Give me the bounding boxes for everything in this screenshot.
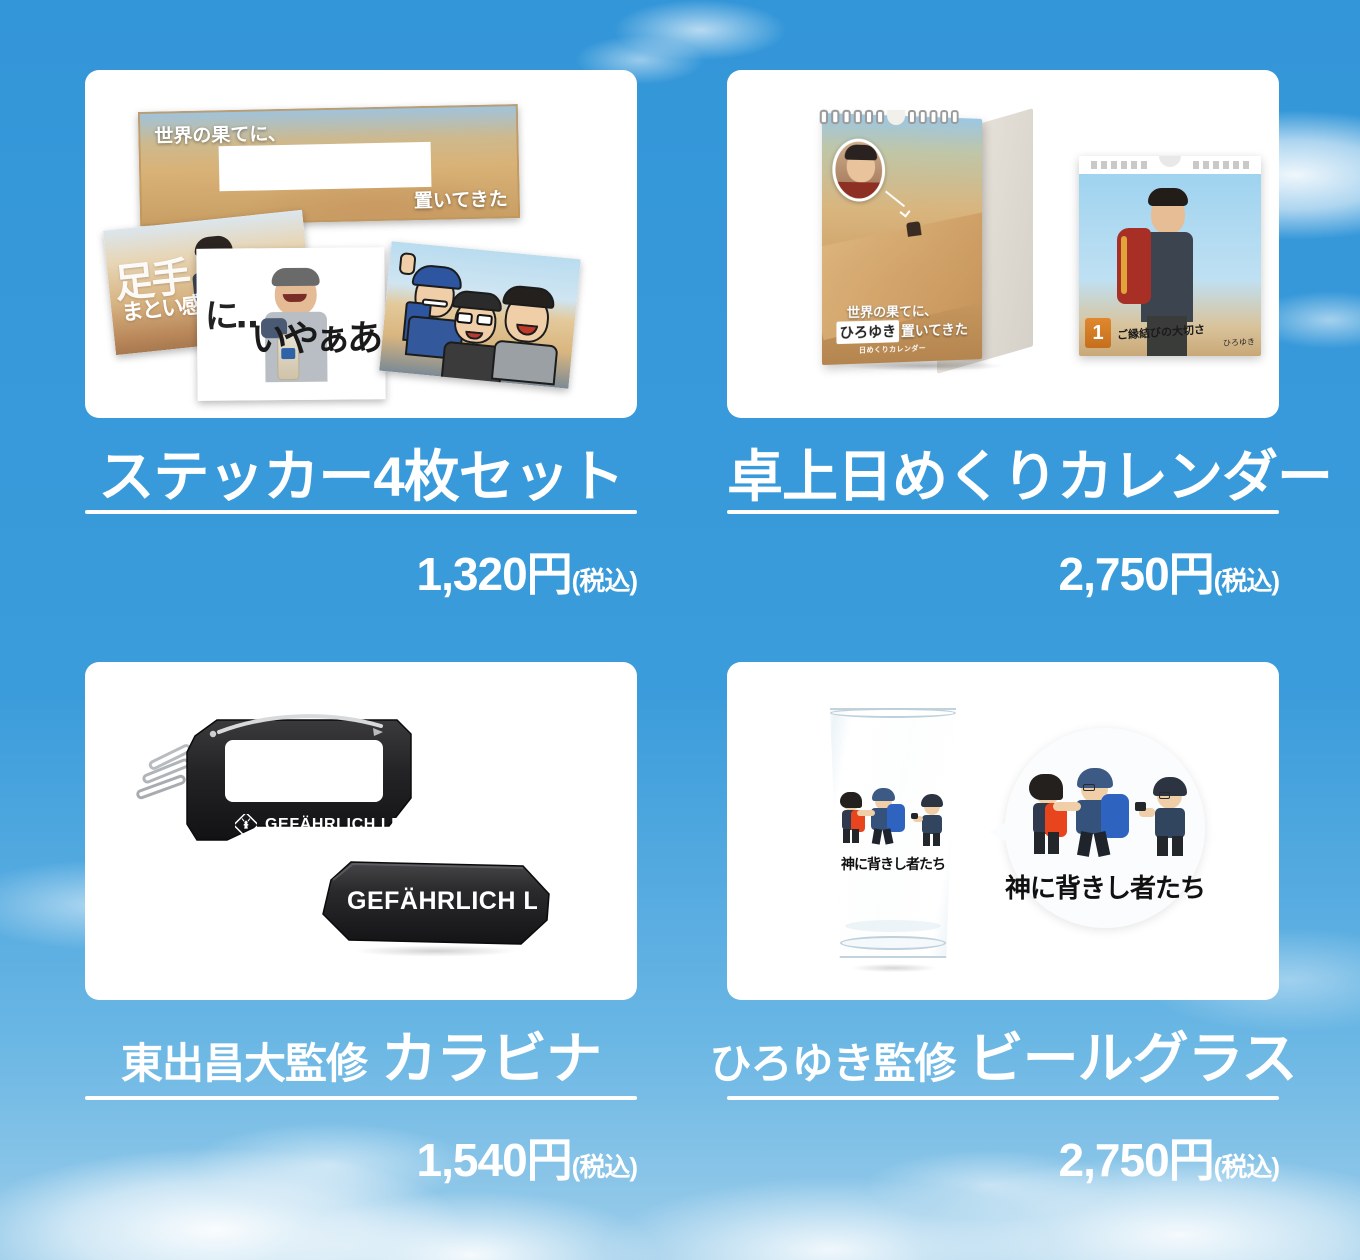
product-title-main: ビールグラス bbox=[968, 1014, 1297, 1095]
product-image-beer-glass: 神に背きし者たち bbox=[727, 662, 1279, 1000]
calendar-day-number: 1 bbox=[1085, 318, 1111, 348]
sticker-trio-illustration bbox=[379, 241, 581, 389]
product-title-carabiner: 東出昌大監修 カラビナ bbox=[85, 1014, 637, 1095]
callout-print-text: 神に背きし者たち bbox=[1005, 868, 1205, 905]
product-title-main: カラビナ bbox=[381, 1014, 601, 1095]
price-amount: 1,540円 bbox=[417, 1134, 572, 1186]
engraving-text: GEFÄHRLICH LEBEN! bbox=[265, 816, 444, 834]
print-detail-callout: 神に背きし者たち bbox=[1005, 728, 1205, 928]
calendar-day-signature: ひろゆき bbox=[1223, 336, 1256, 349]
sticker-iyaa: に‥ いやぁあ bbox=[196, 247, 385, 401]
price-tax-note: (税込) bbox=[1214, 566, 1279, 596]
price-tax-note: (税込) bbox=[572, 566, 637, 596]
product-title-beer-glass: ひろゆき監修 ビールグラス bbox=[727, 1014, 1279, 1095]
product-card-carabiner[interactable]: GEFÄHRLICH LEBEN! bbox=[85, 662, 637, 1192]
product-title-prefix: 東出昌大監修 bbox=[121, 1030, 367, 1091]
title-divider bbox=[727, 1096, 1279, 1100]
product-card-sticker-set[interactable]: 世界の果てに、 置いてきた 足手 まとい感 bbox=[85, 70, 637, 590]
calendar-body: 世界の果てに、 ひろゆき 置いてきた 日めくりカレンダー bbox=[817, 108, 1047, 370]
sticker-top: 世界の果てに、 置いてきた bbox=[138, 104, 520, 226]
glass-print-text: 神に背きし者たち bbox=[823, 854, 963, 874]
product-card-desk-daily-calendar[interactable]: 世界の果てに、 ひろゆき 置いてきた 日めくりカレンダー bbox=[727, 70, 1279, 590]
product-title-calendar: 卓上日めくりカレンダー bbox=[727, 432, 1279, 513]
product-image-calendar: 世界の果てに、 ひろゆき 置いてきた 日めくりカレンダー bbox=[727, 70, 1279, 418]
title-divider bbox=[85, 510, 637, 514]
title-divider bbox=[85, 1096, 637, 1100]
calendar-day-page: 1 ご縁結びの大切さ ひろゆき bbox=[1079, 156, 1261, 356]
carabiner-engraving: GEFÄHRLICH LEBEN! bbox=[235, 814, 444, 836]
product-image-sticker-set: 世界の果てに、 置いてきた 足手 まとい感 bbox=[85, 70, 637, 418]
product-grid: 世界の果てに、 置いてきた 足手 まとい感 bbox=[0, 0, 1360, 1260]
price-amount: 2,750円 bbox=[1059, 1134, 1214, 1186]
price-tax-note: (税込) bbox=[1214, 1152, 1279, 1182]
price-amount: 2,750円 bbox=[1059, 548, 1214, 600]
product-price-carabiner: 1,540円(税込) bbox=[85, 1124, 637, 1190]
carabiner-sleeve-engraving: GEFÄHRLICH LEBE bbox=[337, 884, 537, 918]
product-price-sticker-set: 1,320円(税込) bbox=[85, 538, 637, 604]
beer-glass-shape: 神に背きし者たち bbox=[823, 708, 963, 958]
price-tax-note: (税込) bbox=[572, 1152, 637, 1182]
title-divider bbox=[727, 510, 1279, 514]
product-price-beer-glass: 2,750円(税込) bbox=[727, 1124, 1279, 1190]
product-title-prefix: ひろゆき監修 bbox=[710, 1030, 956, 1091]
product-image-carabiner: GEFÄHRLICH LEBEN! bbox=[85, 662, 637, 1000]
product-title-sticker-set: ステッカー4枚セット bbox=[85, 432, 637, 513]
stag-diamond-icon bbox=[235, 814, 257, 836]
product-card-beer-glass[interactable]: 神に背きし者たち bbox=[727, 662, 1279, 1192]
product-price-calendar: 2,750円(税込) bbox=[727, 538, 1279, 604]
price-amount: 1,320円 bbox=[417, 548, 572, 600]
engraving-text-partial: GEFÄHRLICH LEBE bbox=[347, 887, 537, 916]
